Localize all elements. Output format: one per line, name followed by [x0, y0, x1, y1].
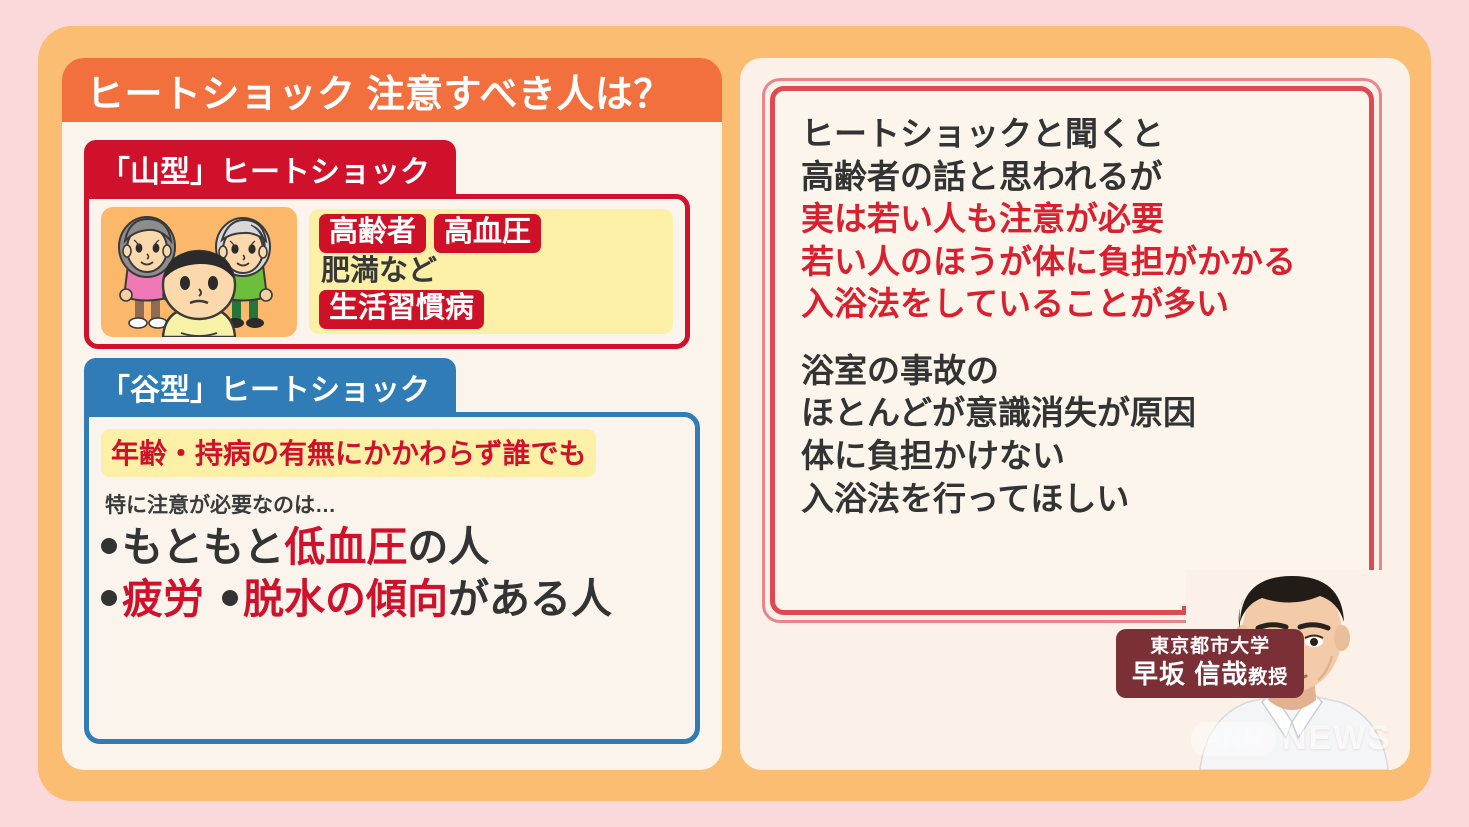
bullet2-part2: 脱水の傾向 [243, 577, 448, 623]
valley-highlight-band: 年齢・持病の有無にかかわらず誰でも [101, 429, 596, 477]
bubble-p1-line2: 高齢者の話と思われるが [801, 156, 1353, 199]
section-tab-valley-label: 「谷型」ヒートショック [100, 374, 430, 407]
bubble-p1-line3: 実は若い人も注意が必要 [801, 198, 1353, 241]
speech-bubble: ヒートショックと聞くと 高齢者の話と思われるが 実は若い人も注意が必要 若い人の… [770, 86, 1374, 615]
bubble-p2-line4: 入浴法を行ってほしい [801, 478, 1353, 521]
bubble-p2-line1: 浴室の事故の [801, 350, 1353, 393]
bubble-p1-line4: 若い人のほうが体に負担がかかる [801, 241, 1353, 284]
nameplate-title: 教授 [1248, 667, 1288, 688]
risk-tag-row: 高齢者 高血圧 [319, 214, 663, 253]
nameplate-name: 早坂 信哉教授 [1132, 659, 1288, 690]
page-title: ヒートショック 注意すべき人は？ [62, 63, 672, 118]
risk-tag-row-bottom: 生活習慣病 [319, 290, 663, 329]
bullet-dot-icon [222, 590, 238, 606]
bullet-dot-icon [101, 538, 117, 554]
nameplate-person-name: 早坂 信哉 [1132, 659, 1248, 689]
valley-highlight-text: 年齢・持病の有無にかかわらず誰でも [111, 438, 586, 469]
risk-tag-lifestyle-disease: 生活習慣病 [319, 290, 484, 329]
paragraph-spacer [801, 326, 1353, 350]
nameplate-organization: 東京都市大学 [1132, 635, 1288, 659]
valley-note: 特に注意が必要なのは… [105, 489, 685, 519]
right-panel: ヒートショックと聞くと 高齢者の話と思われるが 実は若い人も注意が必要 若い人の… [740, 58, 1410, 770]
bullet-dot-icon [101, 590, 117, 606]
list-item: 疲労 脱水の傾向 がある人 [101, 577, 685, 623]
elderly-couple-and-overweight-person-illustration [101, 207, 297, 337]
infographic-stage: ヒートショック 注意すべき人は？ 「山型」ヒートショック [0, 0, 1469, 827]
bubble-p2-line2: ほとんどが意識消失が原因 [801, 392, 1353, 435]
risk-tag-hypertension: 高血圧 [434, 214, 541, 253]
header-bar: ヒートショック 注意すべき人は？ [62, 58, 722, 122]
bullet1-part1: もともと [122, 525, 284, 571]
risk-plain-text: 肥満など [319, 253, 663, 290]
section-tab-mountain-label: 「山型」ヒートショック [100, 156, 430, 189]
bullet2-part1: 疲労 [122, 577, 204, 623]
watermark-news-text: NEWS [1282, 719, 1392, 758]
bubble-p1-line1: ヒートショックと聞くと [801, 113, 1353, 156]
bubble-p2-line3: 体に負担かけない [801, 435, 1353, 478]
watermark-ann-logo: ANN [1191, 722, 1277, 756]
section-body-valley: 年齢・持病の有無にかかわらず誰でも 特に注意が必要なのは… もともと 低血圧 の… [84, 412, 700, 744]
expert-nameplate: 東京都市大学 早坂 信哉教授 [1116, 629, 1304, 698]
bullet2-part3: がある人 [448, 577, 612, 623]
bubble-p1-line5: 入浴法をしていることが多い [801, 283, 1353, 326]
bullet1-part2: 低血圧 [284, 525, 407, 571]
section-tab-valley: 「谷型」ヒートショック [84, 358, 456, 417]
bullet1-part3: の人 [407, 525, 489, 571]
ann-news-watermark: ANN NEWS [1191, 719, 1393, 758]
section-body-mountain: 高齢者 高血圧 肥満など 生活習慣病 [84, 194, 690, 349]
list-item: もともと 低血圧 の人 [101, 525, 685, 571]
risk-tag-elderly: 高齢者 [319, 214, 426, 253]
left-panel: ヒートショック 注意すべき人は？ 「山型」ヒートショック [62, 58, 722, 770]
section-tab-mountain: 「山型」ヒートショック [84, 140, 456, 199]
risk-tags-box: 高齢者 高血圧 肥満など 生活習慣病 [309, 209, 673, 334]
